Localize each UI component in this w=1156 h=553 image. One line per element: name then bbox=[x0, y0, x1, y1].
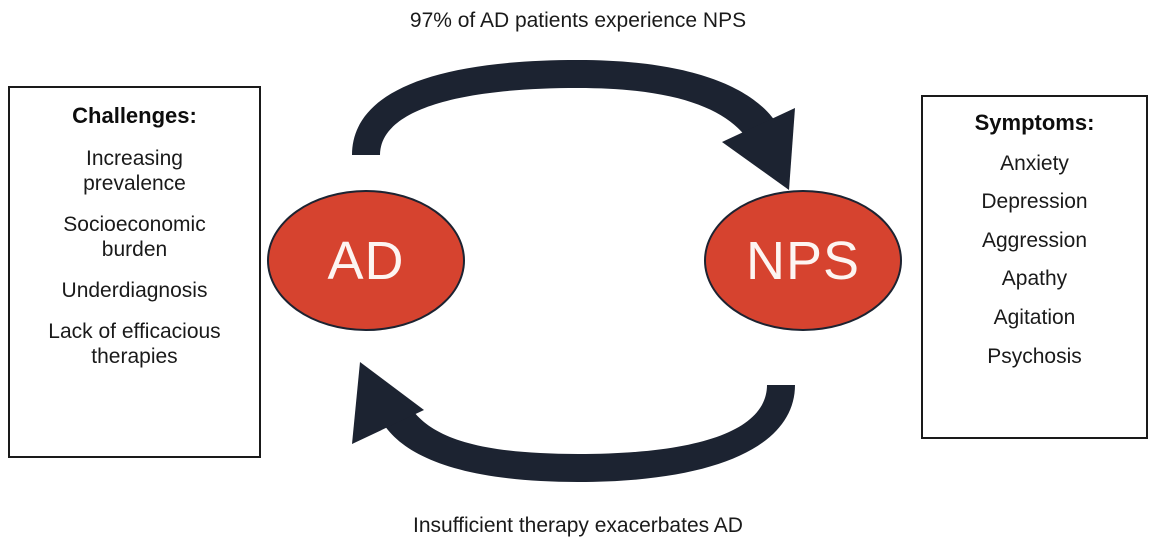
diagram-canvas: 97% of AD patients experience NPS AD NPS… bbox=[0, 0, 1156, 553]
arrow-ad-to-nps bbox=[352, 60, 795, 190]
node-ad-label: AD bbox=[327, 234, 404, 288]
symptoms-list: Anxiety Depression Aggression Apathy Agi… bbox=[923, 151, 1146, 370]
arrowhead-ad-to-nps bbox=[722, 108, 795, 190]
list-item: Lack of efficacioustherapies bbox=[10, 319, 259, 370]
list-item: Socioeconomicburden bbox=[10, 212, 259, 263]
node-ad[interactable]: AD bbox=[267, 190, 465, 331]
list-item: Psychosis bbox=[923, 344, 1146, 370]
list-item: Anxiety bbox=[923, 151, 1146, 177]
challenges-box: Challenges: Increasingprevalence Socioec… bbox=[8, 86, 261, 458]
top-arrow-caption: 97% of AD patients experience NPS bbox=[0, 8, 1156, 33]
bottom-arrow-caption: Insufficient therapy exacerbates AD bbox=[0, 513, 1156, 538]
list-item: Apathy bbox=[923, 266, 1146, 292]
arrow-nps-to-ad bbox=[352, 362, 795, 482]
list-item: Increasingprevalence bbox=[10, 146, 259, 197]
list-item: Aggression bbox=[923, 228, 1146, 254]
node-nps-label: NPS bbox=[746, 234, 860, 288]
symptoms-box-title: Symptoms: bbox=[923, 109, 1146, 137]
list-item: Depression bbox=[923, 189, 1146, 215]
list-item: Underdiagnosis bbox=[10, 278, 259, 304]
node-nps[interactable]: NPS bbox=[704, 190, 902, 331]
symptoms-box: Symptoms: Anxiety Depression Aggression … bbox=[921, 95, 1148, 439]
challenges-box-title: Challenges: bbox=[10, 102, 259, 130]
arrowhead-nps-to-ad bbox=[352, 362, 424, 444]
challenges-list: Increasingprevalence Socioeconomicburden… bbox=[10, 146, 259, 370]
list-item: Agitation bbox=[923, 305, 1146, 331]
